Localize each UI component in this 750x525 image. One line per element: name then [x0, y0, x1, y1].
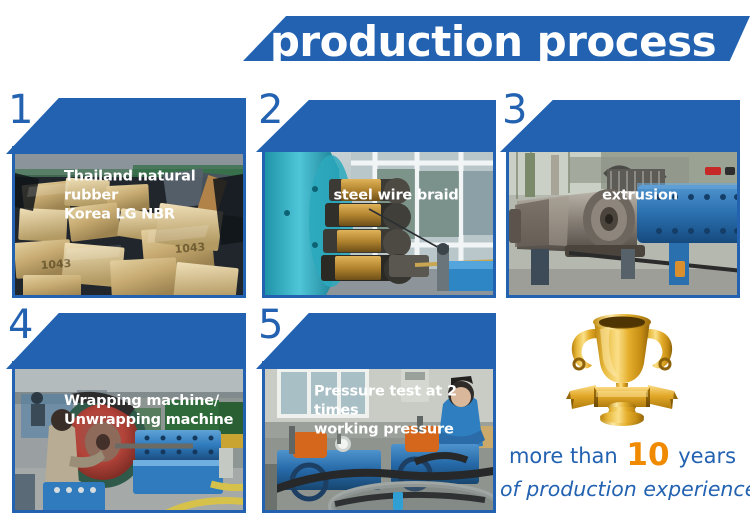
step-label-line1-4: Wrapping machine/ — [64, 392, 240, 411]
step-card-1: 1 Thailand natural rubber Korea LG NBR — [6, 90, 246, 302]
tagline-prefix: more than — [509, 444, 618, 468]
step-card-4: 4 Wrapping machine/ Unwrapping machine — [6, 305, 246, 517]
header-banner: production process — [0, 0, 750, 86]
step-label-line1-5: Pressure test at 2 times — [314, 383, 490, 421]
step-number-1: 1 — [8, 88, 33, 132]
step-label-line2-1: Korea LG NBR — [64, 206, 240, 225]
step-number-5: 5 — [258, 303, 283, 347]
step-label-text-3: extrusion — [546, 187, 734, 206]
step-label-text-1: Thailand natural rubber Korea LG NBR — [64, 168, 240, 225]
step-card-5: 5 Pressure test at 2 times working press… — [256, 305, 496, 517]
step-label-line1-1: Thailand natural rubber — [64, 168, 240, 206]
braiding-machine-photo — [265, 149, 493, 295]
step-label-banner-5 — [256, 313, 496, 369]
step-label-banner-3 — [500, 100, 740, 152]
experience-tagline-line2: of production experience — [500, 477, 749, 501]
step-label-text-5: Pressure test at 2 times working pressur… — [314, 383, 490, 440]
wrapping-machine-photo — [15, 364, 243, 510]
step-label-line1-2: steel wire braid — [302, 187, 490, 206]
tagline-years-number: 10 — [624, 437, 671, 473]
experience-highlight: more than 10 years of production experie… — [500, 305, 745, 520]
extrusion-machine-photo — [509, 149, 737, 295]
step-photo-3 — [506, 146, 740, 298]
step-photo-4 — [12, 361, 246, 513]
step-card-3: 3 extrusion — [500, 90, 740, 302]
trophy-icon — [552, 307, 692, 429]
step-label-banner-4 — [6, 313, 246, 369]
step-number-3: 3 — [502, 88, 527, 132]
step-label-banner-1 — [6, 98, 246, 154]
experience-tagline-line1: more than 10 years — [500, 437, 745, 473]
step-label-text-4: Wrapping machine/ Unwrapping machine — [64, 392, 240, 430]
step-label-banner-2 — [256, 100, 496, 152]
svg-text:1043: 1043 — [174, 240, 206, 256]
step-photo-2 — [262, 146, 496, 298]
step-card-2: 2 steel wire braid — [256, 90, 496, 302]
tagline-suffix: years — [678, 444, 736, 468]
step-label-line1-3: extrusion — [546, 187, 734, 206]
page-title: production process — [243, 10, 743, 74]
trophy-svg — [552, 307, 692, 429]
step-label-line2-4: Unwrapping machine — [64, 411, 240, 430]
step-label-line2-5: working pressure — [314, 421, 490, 440]
step-number-4: 4 — [8, 303, 33, 347]
step-number-2: 2 — [258, 88, 283, 132]
step-label-text-2: steel wire braid — [302, 187, 490, 206]
